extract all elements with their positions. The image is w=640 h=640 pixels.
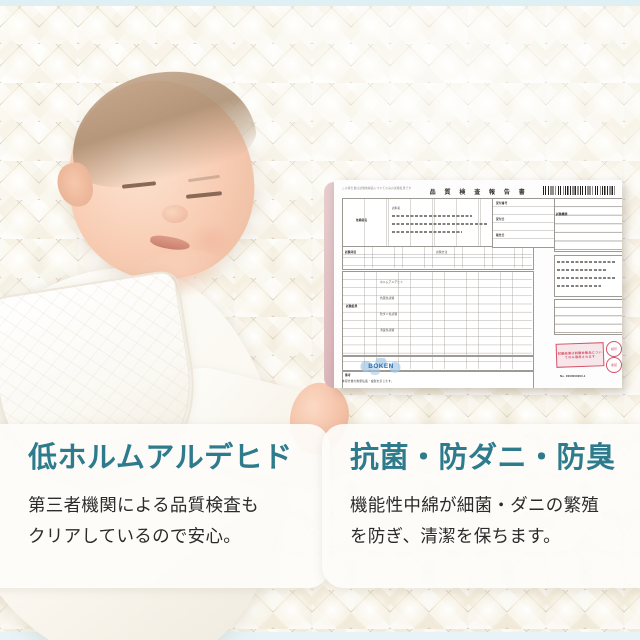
cert-scribble-5	[557, 269, 607, 271]
cert-scribble-1	[392, 215, 472, 217]
seal-left: 検印	[606, 341, 622, 357]
cert-label-method: 受付番号	[496, 202, 508, 205]
feature-title-antibacterial: 抗菌・防ダニ・防臭	[350, 444, 640, 473]
feature-cards: 低ホルムアルデヒド 第三者機関による品質検査も クリアしているので安心。 抗菌・…	[0, 424, 640, 588]
boken-logo: BOKEN	[356, 358, 406, 375]
barcode-icon	[543, 186, 615, 195]
top-edge-strip	[0, 0, 640, 6]
cert-label-remarks: 備考	[345, 374, 351, 377]
cert-value-item-1: ホルムアルデヒド	[380, 281, 403, 284]
feature-text-line-2: を防ぎ、清潔を保ちます。	[350, 521, 640, 552]
seal-right: 承認	[606, 357, 622, 373]
feature-text-low-formaldehyde: 第三者機関による品質検査も クリアしているので安心。	[28, 490, 330, 551]
feature-card-antibacterial: 抗菌・防ダニ・防臭 機能性中綿が細菌・ダニの繁殖 を防ぎ、清潔を保ちます。	[322, 424, 640, 588]
certificate-photo: この報告書は試験依頼品についてのみの試験結果です 品 質 検 査 報 告 書 依…	[326, 180, 622, 392]
certificate-footer-note: 本報告書の無断転載・複製を禁じます。	[342, 380, 394, 383]
cert-label-requester: 依頼者名	[356, 219, 368, 222]
cert-scribble-7	[557, 285, 601, 287]
cert-value-sample: 試験方法	[436, 251, 448, 254]
cert-right-notes-rows	[554, 299, 622, 333]
cert-block-sample-rows	[342, 246, 532, 268]
cert-scribble-4	[557, 261, 615, 263]
report-number: No. 0000000000-1	[560, 375, 586, 378]
cert-label-report-date: 報告日	[496, 234, 505, 237]
baby-nose	[162, 205, 188, 223]
certificate-header-note: この報告書は試験依頼品についてのみの試験結果です	[342, 186, 411, 190]
cert-label-lab: 試験機関	[556, 213, 568, 216]
boken-logo-text: BOKEN	[368, 363, 393, 370]
cert-label-receipt-date: 受付日	[496, 218, 505, 221]
feature-text-line-2: クリアしているので安心。	[28, 521, 330, 552]
banner-stage: この報告書は試験依頼品についてのみの試験結果です 品 質 検 査 報 告 書 依…	[0, 0, 640, 640]
feature-card-low-formaldehyde: 低ホルムアルデヒド 第三者機関による品質検査も クリアしているので安心。	[0, 424, 330, 588]
cert-value-item-4: 消臭性試験	[380, 329, 394, 332]
cert-value-requester-1: 試料名	[392, 207, 401, 210]
certificate-title: 品 質 検 査 報 告 書	[424, 187, 534, 196]
cert-value-item-3: 防ダニ性試験	[380, 313, 397, 316]
cert-value-item-2: 抗菌性試験	[380, 297, 394, 300]
cert-label-test-item: 試験結果	[346, 305, 358, 308]
cert-right-info-rows	[554, 198, 622, 250]
feature-text-antibacterial: 機能性中綿が細菌・ダニの繁殖 を防ぎ、清潔を保ちます。	[350, 490, 640, 551]
feature-text-line-1: 第三者機関による品質検査も	[28, 490, 330, 521]
cert-label-sample: 試験項目	[345, 251, 357, 254]
approval-stamp: 試験結果は試験依頼品についてのみ適用されます	[556, 342, 605, 368]
quality-inspection-report-sheet: この報告書は試験依頼品についてのみの試験結果です 品 質 検 査 報 告 書 依…	[334, 180, 622, 388]
cert-scribble-2	[392, 223, 488, 225]
cert-scribble-3	[392, 231, 462, 233]
cert-divider	[342, 355, 534, 357]
feature-text-line-1: 機能性中綿が細菌・ダニの繁殖	[350, 490, 640, 521]
cert-scribble-6	[557, 277, 617, 279]
feature-title-low-formaldehyde: 低ホルムアルデヒド	[28, 444, 330, 473]
